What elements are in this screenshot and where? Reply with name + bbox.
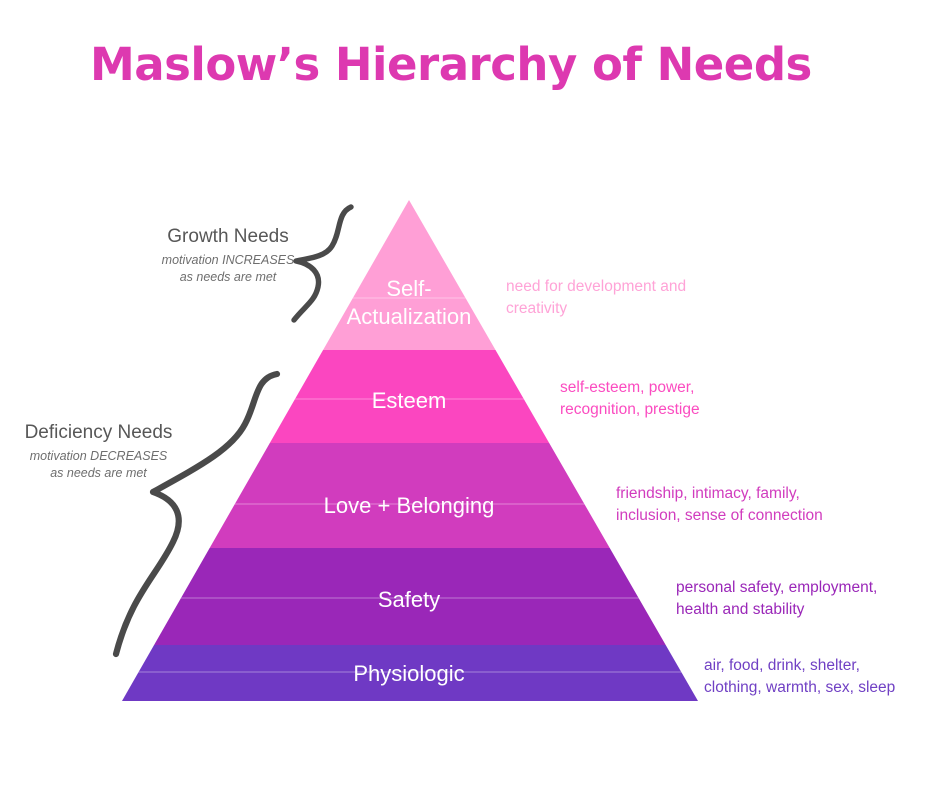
deficiency-needs-annotation: Deficiency Needs motivation DECREASES as… [6,422,191,482]
deficiency-needs-subtitle: motivation DECREASES as needs are met [6,448,191,483]
growth-needs-title: Growth Needs [143,226,313,249]
growth-needs-annotation: Growth Needs motivation INCREASES as nee… [143,226,313,286]
deficiency-needs-title: Deficiency Needs [6,422,191,445]
tier-description-esteem: self-esteem, power, recognition, prestig… [560,377,860,422]
tier-description-physiologic: air, food, drink, shelter, clothing, war… [704,655,940,700]
infographic-canvas: Maslow’s Hierarchy of Needs [0,0,940,788]
pyramid-tier-safety[interactable] [100,548,720,645]
tier-description-safety: personal safety, employment, health and … [676,577,940,622]
growth-needs-subtitle: motivation INCREASES as needs are met [143,252,313,287]
tier-description-love-belonging: friendship, intimacy, family, inclusion,… [616,483,936,528]
tier-description-self-actualization: need for development and creativity [506,276,806,321]
pyramid-tier-physiologic[interactable] [100,645,720,703]
